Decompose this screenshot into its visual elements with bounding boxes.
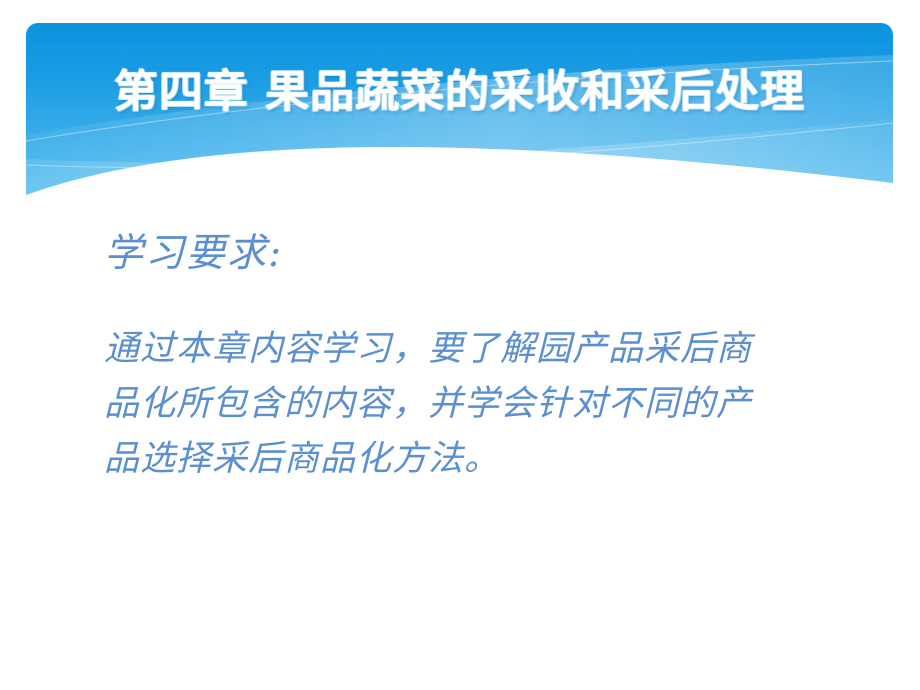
paragraph-line: 品选择采后商品化方法。 — [104, 432, 894, 487]
slide-title: 第四章 果品蔬菜的采收和采后处理 — [26, 62, 893, 122]
content-spacer — [104, 280, 894, 322]
learning-requirements-paragraph: 通过本章内容学习，要了解园产品采后商 品化所包含的内容，并学会针对不同的产 品选… — [104, 322, 894, 487]
paragraph-line: 品化所包含的内容，并学会针对不同的产 — [104, 377, 894, 432]
paragraph-line: 通过本章内容学习，要了解园产品采后商 — [104, 322, 894, 377]
learning-requirements-heading: 学习要求: — [104, 228, 894, 280]
slide-body: 学习要求: 通过本章内容学习，要了解园产品采后商 品化所包含的内容，并学会针对不… — [104, 228, 894, 487]
presentation-slide: 第四章 果品蔬菜的采收和采后处理 学习要求: 通过本章内容学习，要了解园产品采后… — [0, 0, 920, 690]
